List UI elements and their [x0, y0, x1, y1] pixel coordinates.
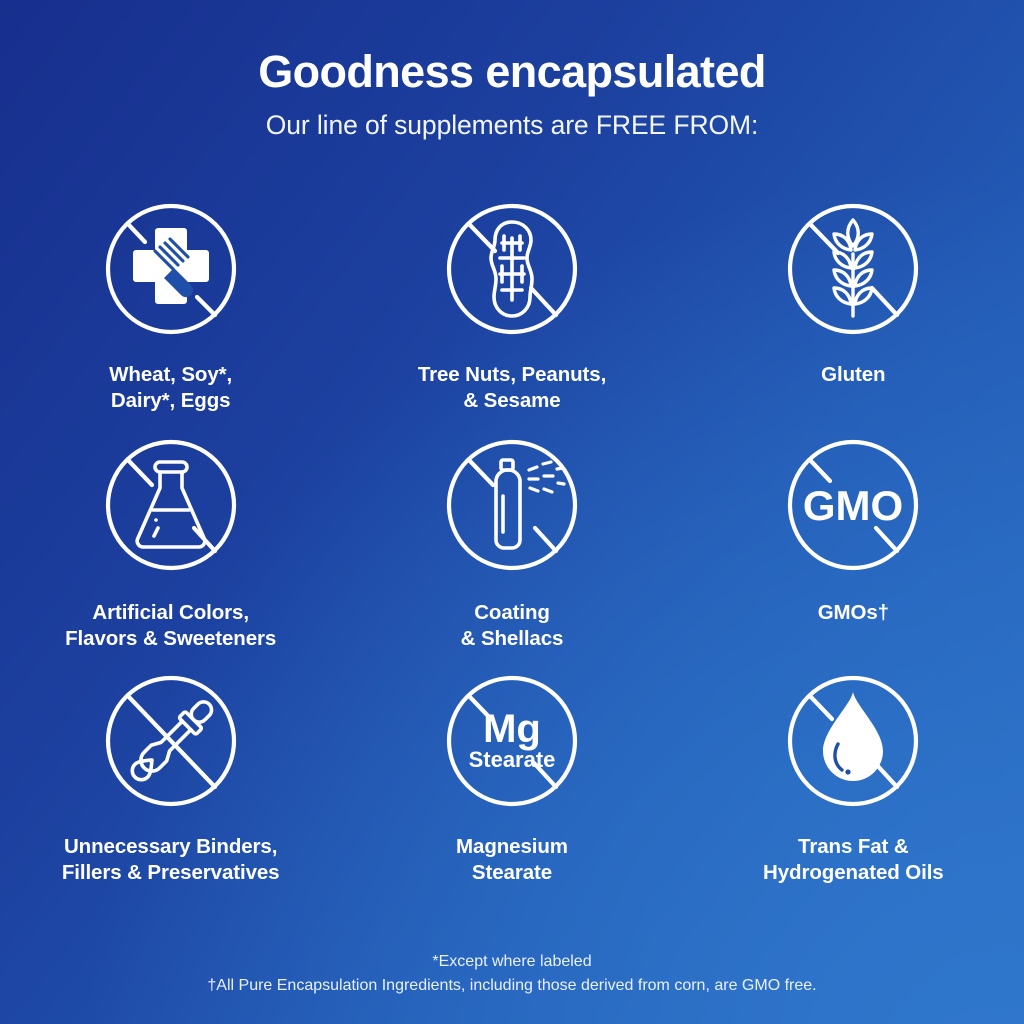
page-subtitle: Our line of supplements are FREE FROM:: [0, 110, 1024, 141]
footnotes: *Except where labeled †All Pure Encapsul…: [0, 950, 1024, 998]
grid-item-wheat-soy-dairy-eggs: Wheat, Soy*, Dairy*, Eggs: [0, 196, 341, 432]
grid-item-trans-fat: Trans Fat & Hydrogenated Oils: [683, 668, 1024, 904]
no-water-droplet-icon: [780, 668, 926, 814]
grid-item-label: Magnesium Stearate: [456, 834, 568, 886]
grid-item-coating-shellacs: Coating & Shellacs: [341, 432, 682, 668]
grid-item-label: Unnecessary Binders, Fillers & Preservat…: [62, 834, 280, 886]
grid-item-magnesium-stearate: Mg Stearate Magnesium Stearate: [341, 668, 682, 904]
infographic-page: Goodness encapsulated Our line of supple…: [0, 0, 1024, 1024]
no-dropper-icon: [98, 668, 244, 814]
free-from-grid: Wheat, Soy*, Dairy*, Eggs: [0, 196, 1024, 904]
grid-item-label: Wheat, Soy*, Dairy*, Eggs: [109, 362, 232, 414]
grid-item-label: Trans Fat & Hydrogenated Oils: [763, 834, 944, 886]
grid-item-gluten: Gluten: [683, 196, 1024, 432]
no-wheat-stalk-icon: [780, 196, 926, 342]
grid-item-label: Artificial Colors, Flavors & Sweeteners: [65, 600, 276, 652]
stearate-icon-text: Stearate: [469, 747, 556, 772]
no-gmo-icon: GMO: [780, 432, 926, 578]
grid-item-label: GMOs†: [818, 600, 889, 626]
grid-item-unnecessary-binders: Unnecessary Binders, Fillers & Preservat…: [0, 668, 341, 904]
no-peanut-icon: [439, 196, 585, 342]
mg-icon-text: Mg: [483, 707, 541, 751]
no-cross-fork-icon: [98, 196, 244, 342]
grid-item-tree-nuts-peanuts-sesame: Tree Nuts, Peanuts, & Sesame: [341, 196, 682, 432]
header: Goodness encapsulated Our line of supple…: [0, 0, 1024, 141]
footnote-dagger: †All Pure Encapsulation Ingredients, inc…: [0, 974, 1024, 998]
grid-item-artificial-colors: Artificial Colors, Flavors & Sweeteners: [0, 432, 341, 668]
no-mg-stearate-icon: Mg Stearate: [439, 668, 585, 814]
grid-item-label: Coating & Shellacs: [461, 600, 564, 652]
grid-item-label: Tree Nuts, Peanuts, & Sesame: [418, 362, 606, 414]
footnote-asterisk: *Except where labeled: [0, 950, 1024, 974]
no-spray-can-icon: [439, 432, 585, 578]
no-flask-icon: [98, 432, 244, 578]
gmo-icon-text: GMO: [803, 482, 903, 529]
grid-item-label: Gluten: [821, 362, 885, 388]
grid-item-gmos: GMO GMOs†: [683, 432, 1024, 668]
page-title: Goodness encapsulated: [0, 46, 1024, 98]
